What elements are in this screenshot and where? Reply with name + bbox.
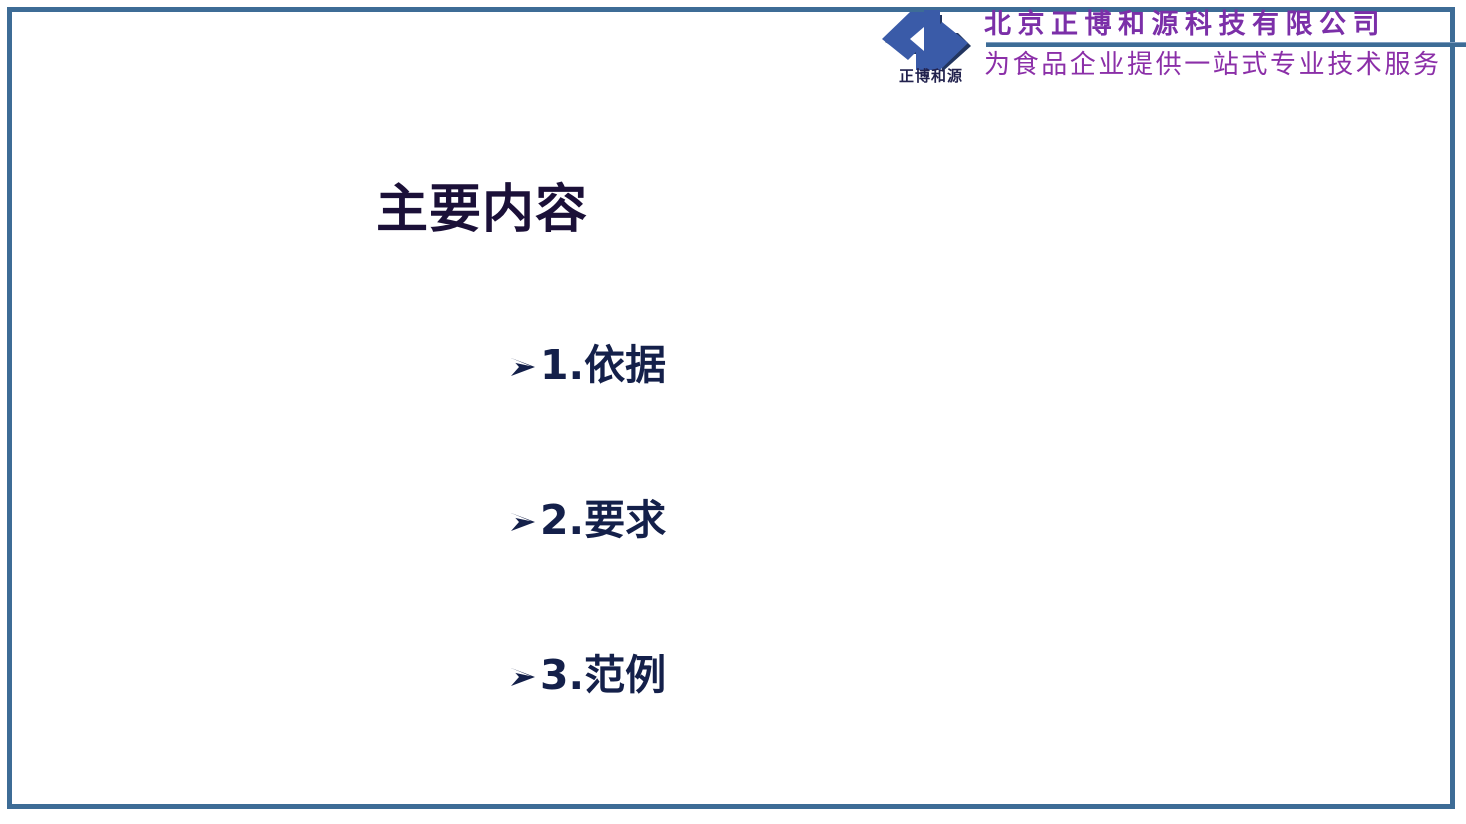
- logo-mark-wrapper: 正博和源: [880, 4, 978, 104]
- arrowhead-bullet-icon: [508, 662, 538, 692]
- list-item[interactable]: 1.依据: [508, 288, 1128, 443]
- presentation-slide: 正博和源 北京正博和源科技有限公司 为食品企业提供一站式专业技术服务 主要内容 …: [0, 0, 1466, 824]
- company-logo-header: 正博和源 北京正博和源科技有限公司 为食品企业提供一站式专业技术服务: [880, 4, 1458, 108]
- arrowhead-bullet-icon: [508, 507, 538, 537]
- logo-divider-rule: [986, 42, 1466, 47]
- agenda-list: 1.依据 2.要求 3.范例: [508, 288, 1128, 753]
- list-item-label: 1.依据: [540, 345, 666, 386]
- slide-title: 主要内容: [376, 181, 588, 239]
- list-item[interactable]: 3.范例: [508, 598, 1128, 753]
- list-item-label: 3.范例: [540, 655, 666, 696]
- list-item[interactable]: 2.要求: [508, 443, 1128, 598]
- logo-caption: 正博和源: [888, 70, 974, 85]
- list-item-label: 2.要求: [540, 500, 666, 541]
- company-tagline: 为食品企业提供一站式专业技术服务: [984, 51, 1466, 80]
- logo-text-wrapper: 北京正博和源科技有限公司 为食品企业提供一站式专业技术服务: [978, 4, 1466, 80]
- zhengbo-heyuan-z-logo-icon: [880, 6, 972, 72]
- arrowhead-bullet-icon: [508, 352, 538, 382]
- company-name: 北京正博和源科技有限公司: [984, 10, 1466, 39]
